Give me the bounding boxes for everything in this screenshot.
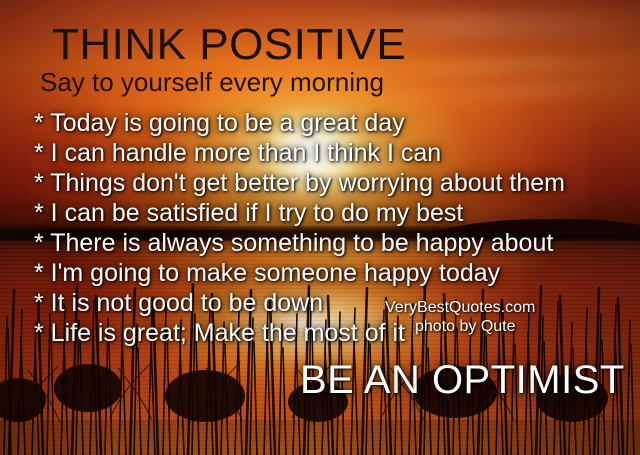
- quote-poster: THINK POSITIVE Say to yourself every mor…: [0, 0, 640, 455]
- list-item: * Today is going to be a great day: [34, 108, 565, 138]
- tagline: BE AN OPTIMIST: [300, 358, 625, 403]
- watermark-photo-credit: photo by Qute: [415, 318, 516, 336]
- list-item: * I'm going to make someone happy today: [34, 258, 565, 288]
- page-subtitle: Say to yourself every morning: [40, 67, 384, 98]
- list-item: * Things don't get better by worrying ab…: [34, 168, 565, 198]
- list-item: * I can handle more than I think I can: [34, 138, 565, 168]
- list-item: * I can be satisfied if I try to do my b…: [34, 198, 565, 228]
- page-title: THINK POSITIVE: [52, 20, 406, 70]
- watermark-website: VeryBestQuotes.com: [385, 299, 535, 317]
- list-item: * There is always something to be happy …: [34, 228, 565, 258]
